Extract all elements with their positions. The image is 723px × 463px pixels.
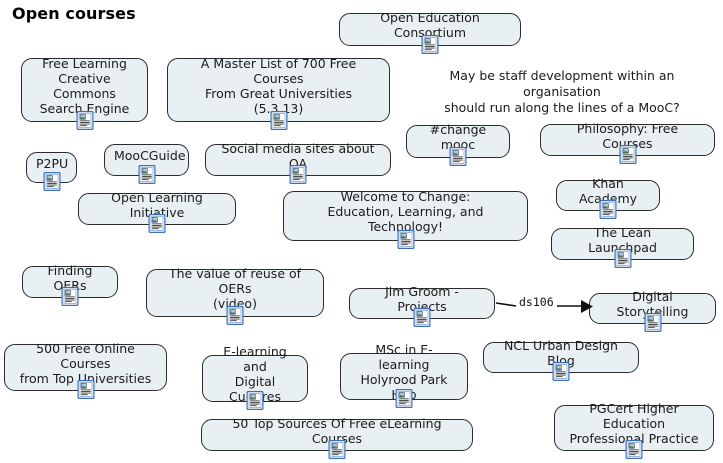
mindmap-node-open-education-consortium[interactable]: Open Education Consortium <box>339 13 521 46</box>
floating-note-note-staff-development: May be staff development within an organ… <box>412 68 712 116</box>
mindmap-node-open-learning-initiative[interactable]: Open Learning Initiative <box>78 193 236 225</box>
document-attachment-icon[interactable] <box>62 287 79 306</box>
mindmap-node-the-lean-launchpad[interactable]: The Lean Launchpad <box>551 228 694 260</box>
mindmap-node-finding-oers[interactable]: Finding OERs <box>22 266 118 298</box>
document-attachment-icon[interactable] <box>422 35 439 54</box>
document-attachment-icon[interactable] <box>270 111 287 130</box>
mindmap-node-philosophy-free-courses[interactable]: Philosophy: Free Courses <box>540 124 715 156</box>
mindmap-node-msc-in-e-learning-holyrood-park-hub[interactable]: MSc in E-learning Holyrood Park Hub <box>340 353 468 400</box>
mindmap-node-ncl-urban-design-blog[interactable]: NCL Urban Design Blog <box>483 342 639 373</box>
mindmap-node-pgcert-higher-education-professional-practice[interactable]: PGCert Higher Education Professional Pra… <box>554 405 714 451</box>
mindmap-node-50-top-sources-of-free-elearning-courses[interactable]: 50 Top Sources Of Free eLearning Courses <box>201 419 473 451</box>
mindmap-node-p2pu[interactable]: P2PU <box>26 152 77 183</box>
connector-label-jim-groom-to-digital-storytelling: ds106 <box>519 295 554 309</box>
document-attachment-icon[interactable] <box>138 165 155 184</box>
document-attachment-icon[interactable] <box>149 214 166 233</box>
document-attachment-icon[interactable] <box>626 440 643 459</box>
mindmap-canvas: Open courses Open Education ConsortiumFr… <box>0 0 723 463</box>
mindmap-node-500-free-online-courses[interactable]: 500 Free Online Courses from Top Univers… <box>4 344 167 391</box>
mindmap-node-the-value-of-reuse-of-oers[interactable]: The value of reuse of OERs (video) <box>146 269 324 317</box>
mindmap-node-jim-groom-projects[interactable]: Jim Groom - Projects <box>349 288 495 319</box>
document-attachment-icon[interactable] <box>553 362 570 381</box>
page-title: Open courses <box>12 4 136 23</box>
document-attachment-icon[interactable] <box>396 389 413 408</box>
mindmap-node-khan-academy[interactable]: Khan Academy <box>556 180 660 211</box>
document-attachment-icon[interactable] <box>290 165 307 184</box>
document-attachment-icon[interactable] <box>619 145 636 164</box>
document-attachment-icon[interactable] <box>614 249 631 268</box>
document-attachment-icon[interactable] <box>227 306 244 325</box>
node-label: P2PU <box>36 156 67 171</box>
mindmap-node-welcome-to-change[interactable]: Welcome to Change: Education, Learning, … <box>283 191 528 241</box>
document-attachment-icon[interactable] <box>43 172 60 191</box>
mindmap-node-free-learning-creative-commons-search-engine[interactable]: Free Learning Creative Commons Search En… <box>21 58 148 122</box>
mindmap-node-social-media-sites-about-oa[interactable]: Social media sites about OA <box>205 144 391 176</box>
document-attachment-icon[interactable] <box>600 200 617 219</box>
node-label: Welcome to Change: Education, Learning, … <box>293 189 518 234</box>
document-attachment-icon[interactable] <box>329 440 346 459</box>
node-label: 500 Free Online Courses from Top Univers… <box>14 341 157 386</box>
mindmap-node-e-learning-and-digital-cultures[interactable]: E-learning and Digital Cultures <box>202 355 308 402</box>
document-attachment-icon[interactable] <box>450 147 467 166</box>
node-label: Free Learning Creative Commons Search En… <box>31 56 138 116</box>
mindmap-node-a-master-list-of-700-free-courses[interactable]: A Master List of 700 Free Courses From G… <box>167 58 390 122</box>
node-label: MooCGuide <box>114 148 179 163</box>
document-attachment-icon[interactable] <box>76 111 93 130</box>
mindmap-node-change-mooc[interactable]: #change mooc <box>406 125 510 158</box>
document-attachment-icon[interactable] <box>644 313 661 332</box>
mindmap-node-moocguide[interactable]: MooCGuide <box>104 144 189 176</box>
node-label: A Master List of 700 Free Courses From G… <box>177 56 380 116</box>
mindmap-node-digital-storytelling[interactable]: Digital Storytelling <box>589 293 716 324</box>
document-attachment-icon[interactable] <box>77 380 94 399</box>
node-label: The value of reuse of OERs (video) <box>156 266 314 311</box>
document-attachment-icon[interactable] <box>397 230 414 249</box>
document-attachment-icon[interactable] <box>414 308 431 327</box>
document-attachment-icon[interactable] <box>247 391 264 410</box>
